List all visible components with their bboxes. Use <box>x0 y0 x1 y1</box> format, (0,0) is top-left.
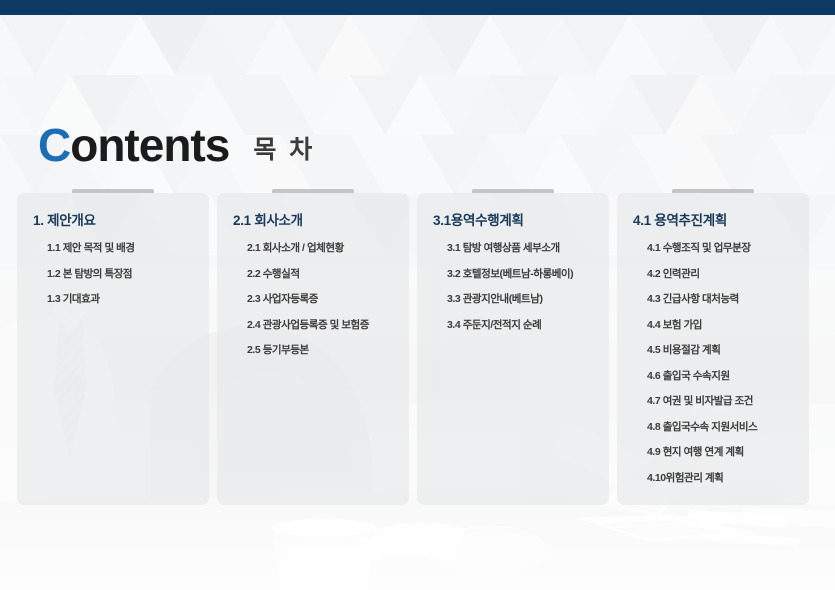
list-item[interactable]: 4.6 출입국 수속지원 <box>647 371 801 382</box>
card-top-tab <box>72 189 154 193</box>
list-item[interactable]: 4.9 현지 여행 연계 계획 <box>647 447 801 458</box>
card-item-list: 3.1 탐방 여행상품 세부소개 3.2 호텔정보(베트남-하롱베이) 3.3 … <box>429 243 601 330</box>
card-top-tab <box>472 189 554 193</box>
list-item[interactable]: 3.1 탐방 여행상품 세부소개 <box>447 243 601 254</box>
list-item[interactable]: 4.3 긴급사항 대처능력 <box>647 294 801 305</box>
list-item[interactable]: 3.3 관광지안내(베트남) <box>447 294 601 305</box>
list-item[interactable]: 3.4 주둔지/전적지 순례 <box>447 320 601 331</box>
top-accent-bar <box>0 0 835 15</box>
card-top-tab <box>272 189 354 193</box>
page-title: Contents 목 차 <box>38 122 315 168</box>
card-title: 3.1용역수행계획 <box>433 209 601 229</box>
contents-card-3[interactable]: 3.1용역수행계획 3.1 탐방 여행상품 세부소개 3.2 호텔정보(베트남-… <box>417 193 609 505</box>
title-lead-letter: C <box>38 119 70 171</box>
list-item[interactable]: 1.1 제안 목적 및 배경 <box>47 243 201 254</box>
title-rest: ontents <box>70 119 229 171</box>
list-item[interactable]: 2.3 사업자등록증 <box>247 294 401 305</box>
list-item[interactable]: 3.2 호텔정보(베트남-하롱베이) <box>447 269 601 280</box>
list-item[interactable]: 2.1 회사소개 / 업체현황 <box>247 243 401 254</box>
card-title: 4.1 용역추진계획 <box>633 209 801 229</box>
contents-card-row: 1. 제안개요 1.1 제안 목적 및 배경 1.2 본 탐방의 특장점 1.3… <box>17 193 818 505</box>
list-item[interactable]: 4.5 비용절감 계획 <box>647 345 801 356</box>
list-item[interactable]: 2.4 관광사업등록증 및 보험증 <box>247 320 401 331</box>
title-contents: Contents <box>38 122 229 168</box>
list-item[interactable]: 4.7 여권 및 비자발급 조건 <box>647 396 801 407</box>
list-item[interactable]: 4.10위험관리 계획 <box>647 473 801 484</box>
card-item-list: 4.1 수행조직 및 업무분장 4.2 인력관리 4.3 긴급사항 대처능력 4… <box>629 243 801 483</box>
list-item[interactable]: 2.2 수행실적 <box>247 269 401 280</box>
list-item[interactable]: 4.4 보험 가입 <box>647 320 801 331</box>
card-top-tab <box>672 189 754 193</box>
slide-canvas: Contents 목 차 1. 제안개요 1.1 제안 목적 및 배경 1.2 … <box>0 0 835 590</box>
contents-card-1[interactable]: 1. 제안개요 1.1 제안 목적 및 배경 1.2 본 탐방의 특장점 1.3… <box>17 193 209 505</box>
list-item[interactable]: 4.1 수행조직 및 업무분장 <box>647 243 801 254</box>
contents-card-2[interactable]: 2.1 회사소개 2.1 회사소개 / 업체현황 2.2 수행실적 2.3 사업… <box>217 193 409 505</box>
title-subtitle-korean: 목 차 <box>253 138 315 163</box>
list-item[interactable]: 4.8 출입국수속 지원서비스 <box>647 422 801 433</box>
card-title: 2.1 회사소개 <box>233 209 401 229</box>
list-item[interactable]: 1.2 본 탐방의 특장점 <box>47 269 201 280</box>
contents-card-4[interactable]: 4.1 용역추진계획 4.1 수행조직 및 업무분장 4.2 인력관리 4.3 … <box>617 193 809 505</box>
list-item[interactable]: 4.2 인력관리 <box>647 269 801 280</box>
card-item-list: 1.1 제안 목적 및 배경 1.2 본 탐방의 특장점 1.3 기대효과 <box>29 243 201 305</box>
card-item-list: 2.1 회사소개 / 업체현황 2.2 수행실적 2.3 사업자등록증 2.4 … <box>229 243 401 356</box>
list-item[interactable]: 1.3 기대효과 <box>47 294 201 305</box>
card-title: 1. 제안개요 <box>33 209 201 229</box>
list-item[interactable]: 2.5 등기부등본 <box>247 345 401 356</box>
